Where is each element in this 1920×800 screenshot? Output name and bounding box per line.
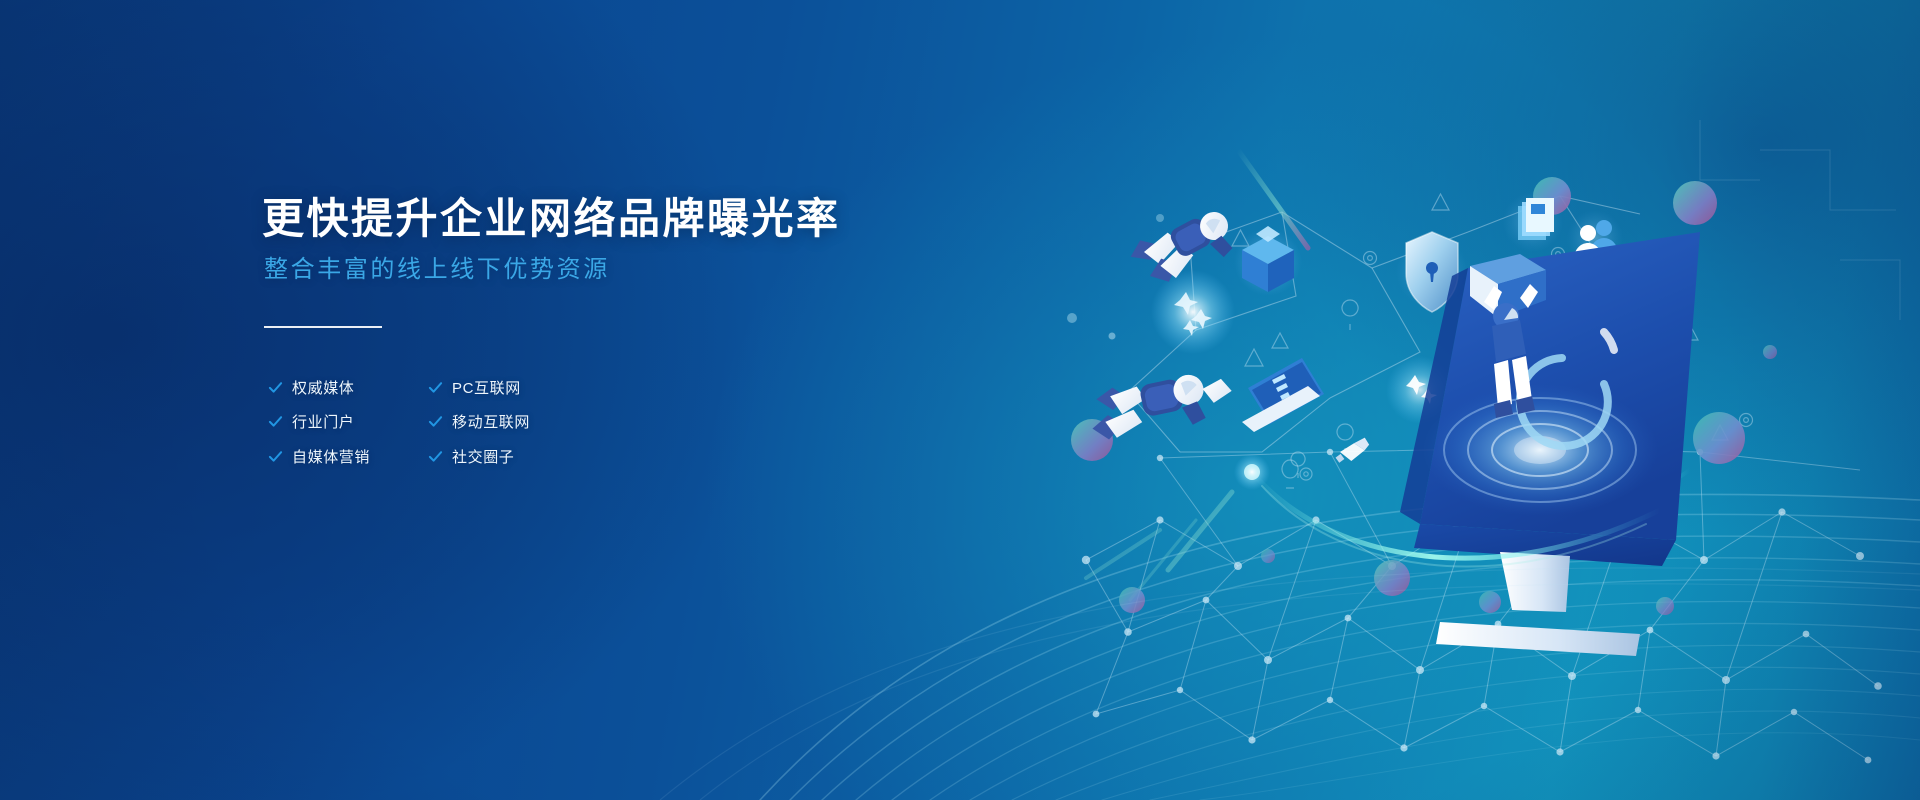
promo-banner: 更快提升企业网络品牌曝光率 整合丰富的线上线下优势资源 权威媒体 (0, 0, 1920, 800)
list-item: 自媒体营销 社交圈子 (268, 439, 598, 474)
check-icon (268, 414, 283, 429)
feature-item-self-media-marketing[interactable]: 自媒体营销 (268, 446, 428, 467)
check-icon (268, 449, 283, 464)
page-title: 更快提升企业网络品牌曝光率 (262, 185, 841, 246)
check-icon (428, 414, 443, 429)
check-icon (428, 380, 443, 395)
feature-list: 权威媒体 PC互联网 行业门户 (268, 370, 598, 474)
list-item: 行业门户 移动互联网 (268, 405, 598, 440)
feature-item-authoritative-media[interactable]: 权威媒体 (268, 377, 428, 398)
page-subtitle: 整合丰富的线上线下优势资源 (264, 249, 610, 284)
list-item: 权威媒体 PC互联网 (268, 370, 598, 405)
feature-item-social-circle[interactable]: 社交圈子 (428, 446, 598, 467)
banner-content: 更快提升企业网络品牌曝光率 整合丰富的线上线下优势资源 权威媒体 (262, 0, 882, 800)
check-icon (428, 449, 443, 464)
feature-label: 行业门户 (292, 411, 354, 432)
check-icon (268, 380, 283, 395)
feature-item-pc-internet[interactable]: PC互联网 (428, 377, 598, 398)
title-divider (264, 326, 382, 328)
feature-label: 移动互联网 (452, 411, 530, 432)
feature-label: 社交圈子 (452, 446, 514, 467)
feature-label: 权威媒体 (292, 377, 354, 398)
feature-label: 自媒体营销 (292, 446, 370, 467)
feature-item-mobile-internet[interactable]: 移动互联网 (428, 411, 598, 432)
feature-label: PC互联网 (452, 377, 521, 398)
feature-item-industry-portal[interactable]: 行业门户 (268, 411, 428, 432)
